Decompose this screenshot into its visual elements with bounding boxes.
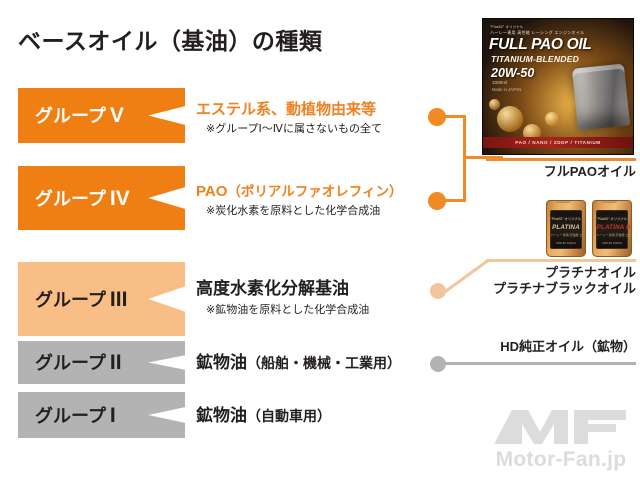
group-bar-v: グループV: [18, 88, 185, 143]
bottle-label: "Plus92" オリジナル PLATINA BLACK ハーレー専用 高性能 …: [596, 210, 629, 249]
bottle-cap: [555, 200, 570, 203]
can-made-in: Made in JAPAN: [492, 87, 521, 92]
watermark-text: Motor-Fan.jp: [492, 448, 630, 472]
group-numeral-ii: II: [106, 351, 122, 374]
full-pao-oil-can-image: "Plus92" オリジナル ハーレー専用 高性能 レーシング エンジンオイル …: [482, 18, 634, 155]
desc-main-sub-iv: （ポリアルファオレフィン）: [227, 184, 402, 199]
piston-illustration: [572, 63, 630, 130]
description-group-v: エステル系、動植物由来等 ※グループⅠ～Ⅳに属さないもの全て: [196, 101, 382, 136]
page-title: ベースオイル（基油）の種類: [18, 22, 322, 56]
desc-main-sub-i: （自動車用）: [247, 408, 331, 424]
group-label-v: グループ: [35, 106, 106, 126]
group-bar-iii: グループIII: [18, 262, 185, 336]
description-group-iii: 高度水素化分解基油 ※鉱物油を原料とした化学合成油: [196, 279, 369, 317]
description-group-iv: PAO（ポリアルファオレフィン） ※炭化水素を原料とした化学合成油: [196, 183, 403, 218]
infographic-root: ベースオイル（基油）の種類 グループV グループIV グループIII グループI…: [0, 0, 640, 480]
can-brand-tiny: "Plus92" オリジナル: [490, 24, 523, 29]
desc-main-sub-ii: （船舶・機械・工業用）: [247, 355, 401, 371]
connector-line-iii-horizontal: [486, 259, 636, 262]
group-label-iii: グループ: [35, 290, 106, 310]
watermark: Motor-Fan.jp: [492, 400, 630, 472]
can-footer-band: PAO / NANO / ZDDP / TITANIUM: [483, 137, 633, 148]
can-volume: 1000ml: [492, 80, 507, 85]
desc-note-iv: ※炭化水素を原料とした化学合成油: [196, 202, 403, 218]
desc-main-v: エステル系、動植物由来等: [196, 101, 376, 118]
group-label-iv: グループ: [35, 189, 106, 209]
can-subtitle: TITANIUM-BLENDED: [491, 54, 579, 64]
group-numeral-i: I: [106, 404, 116, 427]
desc-main-i: 鉱物油: [196, 406, 247, 425]
full-pao-oil-label: フルPAOオイル: [486, 164, 636, 180]
group-label-i: グループ: [35, 406, 106, 426]
desc-note-iii: ※鉱物油を原料とした化学合成油: [196, 301, 369, 317]
group-bar-iv: グループIV: [18, 166, 185, 230]
description-group-i: 鉱物油（自動車用）: [196, 406, 331, 426]
bottle-cap: [601, 200, 616, 203]
mf-logo-icon: [492, 400, 630, 452]
full-pao-underline: [486, 158, 636, 161]
can-viscosity: 20W-50: [491, 66, 534, 80]
platina-black-oil-bottle-image: "Plus92" オリジナル PLATINA BLACK ハーレー専用 高性能 …: [592, 200, 632, 257]
platina-oil-label: プラチナオイル プラチナブラックオイル: [436, 265, 636, 298]
group-numeral-iv: IV: [106, 187, 130, 210]
desc-note-v: ※グループⅠ～Ⅳに属さないもの全て: [196, 120, 382, 136]
description-group-ii: 鉱物油（船舶・機械・工業用）: [196, 353, 401, 373]
group-bar-i: グループI: [18, 392, 185, 438]
can-footer-text: PAO / NANO / ZDDP / TITANIUM: [515, 140, 600, 145]
desc-main-iv: PAO: [196, 183, 227, 200]
group-bar-ii: グループII: [18, 341, 185, 384]
group-numeral-v: V: [106, 104, 124, 127]
desc-main-iii: 高度水素化分解基油: [196, 279, 349, 298]
group-label-ii: グループ: [35, 353, 106, 373]
bottle-label: "Plus92" オリジナル PLATINA ハーレー専用 高性能 エンジンオイ…: [550, 210, 583, 249]
desc-main-ii: 鉱物油: [196, 353, 247, 372]
platina-oil-bottle-image: "Plus92" オリジナル PLATINA ハーレー専用 高性能 エンジンオイ…: [546, 200, 586, 257]
group-numeral-iii: III: [106, 288, 128, 311]
hd-genuine-oil-label: HD純正オイル（鉱物）: [436, 339, 636, 355]
connector-line-ii-horizontal: [444, 362, 636, 365]
can-title: FULL PAO OIL: [489, 36, 592, 54]
